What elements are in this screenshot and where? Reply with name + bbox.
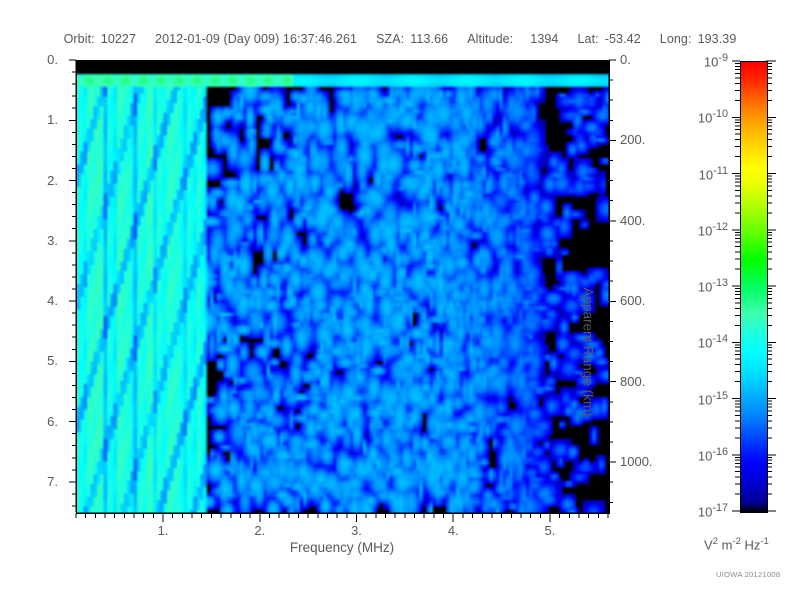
footer-credit: UIOWA 20121008 — [716, 570, 780, 579]
datetime-value: 2012-01-09 (Day 009) 16:37:46.261 — [155, 32, 357, 46]
left-tick-label-4: 4. — [20, 293, 58, 308]
left-tick-label-3: 3. — [20, 233, 58, 248]
lat-field: Lat: -53.42 — [577, 32, 640, 46]
left-tick-label-2: 2. — [20, 173, 58, 188]
colorbar-tick-label-3: 10-12 — [684, 221, 728, 238]
right-axis-ticks — [609, 56, 623, 516]
colorbar-tick-label-5: 10-14 — [684, 333, 728, 350]
right-tick-label-1: 200. — [620, 132, 680, 147]
altitude-value: 1394 — [530, 32, 558, 46]
cb-unit-v: V — [704, 537, 713, 552]
colorbar-tick-label-4: 10-13 — [684, 277, 728, 294]
ionogram-heatmap-canvas — [77, 61, 609, 513]
bottom-axis-title: Frequency (MHz) — [0, 540, 684, 555]
left-tick-label-0: 0. — [20, 52, 58, 67]
left-tick-label-7: 7. — [20, 474, 58, 489]
sza-value: 113.66 — [410, 32, 448, 46]
left-axis-ticks — [62, 56, 76, 516]
long-label: Long: — [660, 32, 692, 46]
left-tick-label-5: 5. — [20, 353, 58, 368]
bottom-tick-label-3: 4. — [433, 523, 473, 538]
bottom-tick-label-1: 2. — [240, 523, 280, 538]
right-tick-label-5: 1000. — [620, 454, 680, 469]
colorbar-tick-label-0: 10-9 — [684, 52, 728, 69]
right-tick-label-2: 400. — [620, 213, 680, 228]
colorbar-tick-label-1: 10-10 — [684, 108, 728, 125]
datetime-field: 2012-01-09 (Day 009) 16:37:46.261 — [155, 32, 357, 46]
bottom-tick-label-2: 3. — [337, 523, 377, 538]
cb-unit-m-exp: -2 — [732, 536, 740, 547]
bottom-tick-label-4: 5. — [530, 523, 570, 538]
bottom-tick-label-0: 1. — [143, 523, 183, 538]
ionogram-plot-area — [76, 60, 610, 514]
left-tick-label-6: 6. — [20, 414, 58, 429]
altitude-field: Altitude: 1394 — [467, 32, 558, 46]
colorbar-tick-label-7: 10-16 — [684, 446, 728, 463]
sza-field: SZA: 113.66 — [376, 32, 448, 46]
colorbar-tick-label-8: 10-17 — [684, 502, 728, 519]
orbit-value: 10227 — [101, 32, 136, 46]
altitude-label: Altitude: — [467, 32, 513, 46]
colorbar-units-label: V2 m-2 Hz-1 — [704, 536, 769, 552]
left-tick-label-1: 1. — [20, 112, 58, 127]
right-tick-label-4: 800. — [620, 374, 680, 389]
cb-unit-hz: Hz — [741, 537, 761, 552]
colorbar-gradient — [740, 61, 768, 513]
lat-label: Lat: — [577, 32, 598, 46]
sza-label: SZA: — [376, 32, 404, 46]
cb-unit-m: m — [718, 537, 732, 552]
right-axis-title: Apparent Range (km) — [580, 288, 595, 417]
right-tick-label-3: 600. — [620, 293, 680, 308]
colorbar-tick-label-6: 10-15 — [684, 390, 728, 407]
orbit-field: Orbit: 10227 — [64, 32, 136, 46]
right-tick-label-0: 0. — [620, 52, 680, 67]
orbit-label: Orbit: — [64, 32, 95, 46]
cb-unit-hz-exp: -1 — [760, 536, 768, 547]
colorbar-tick-label-2: 10-11 — [684, 165, 728, 182]
long-value: 193.39 — [698, 32, 737, 46]
lat-value: -53.42 — [605, 32, 641, 46]
long-field: Long: 193.39 — [660, 32, 737, 46]
header-info-line: Orbit: 10227 2012-01-09 (Day 009) 16:37:… — [0, 31, 800, 47]
